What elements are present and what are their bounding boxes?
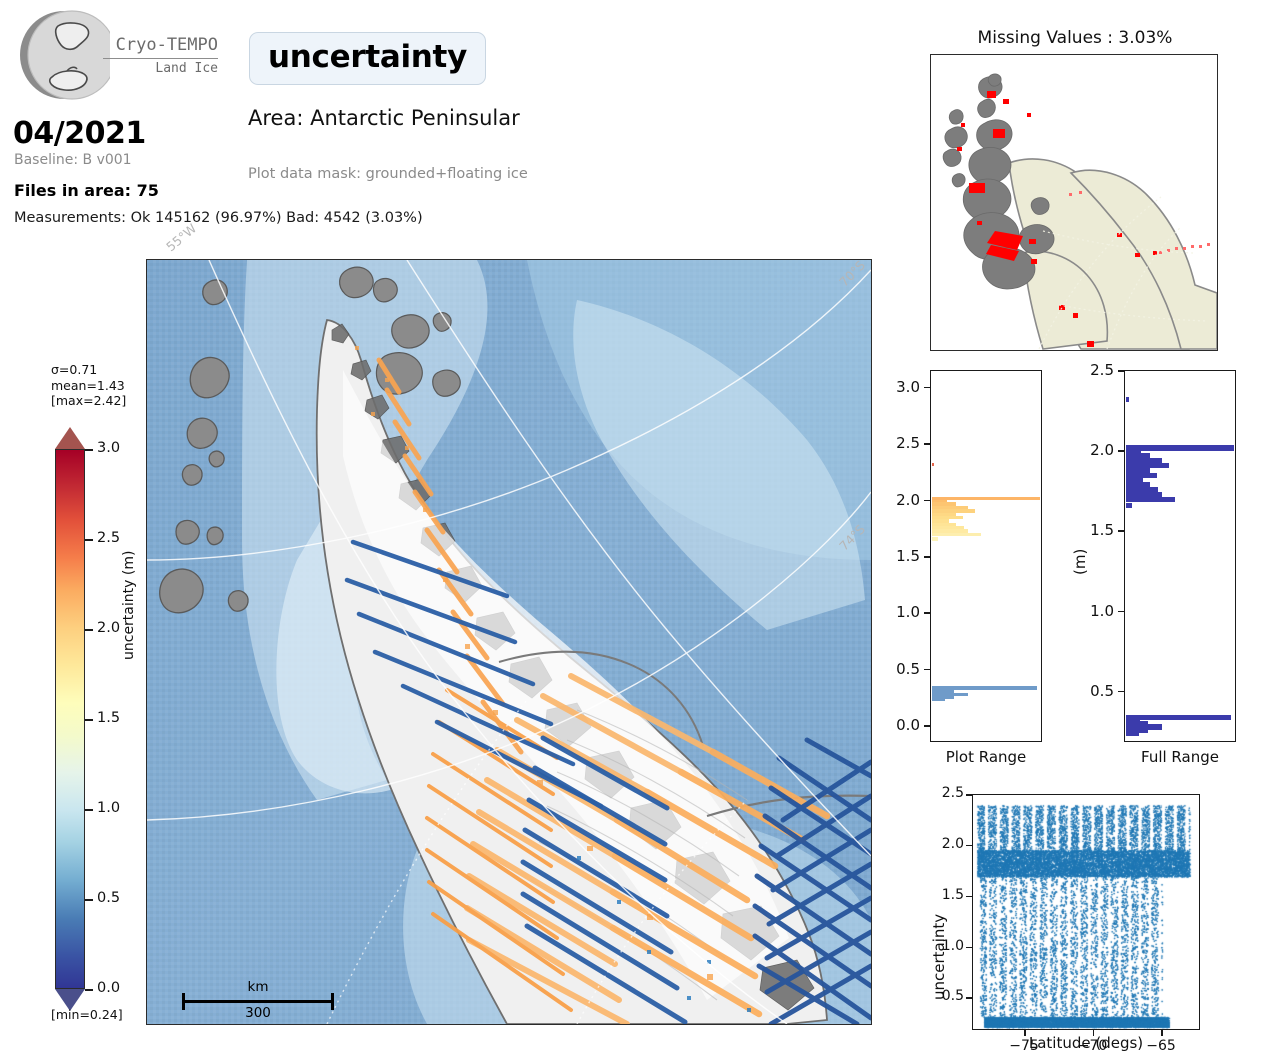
histogram-tick	[924, 612, 930, 614]
area-label: Area: Antarctic Peninsular	[248, 106, 520, 130]
scatter-xlabel: Latitude (degs)	[972, 1034, 1200, 1052]
plot-data-mask-label: Plot data mask: grounded+floating ice	[248, 166, 528, 182]
baseline-label: Baseline: B v001	[14, 152, 132, 168]
scatter-ytick	[966, 896, 972, 898]
histogram-tick	[1118, 450, 1124, 452]
scatter-ytick	[966, 794, 972, 796]
colorbar-tick-label: 2.0	[97, 620, 120, 636]
colorbar-tick	[85, 899, 93, 901]
logo-subtitle: Land Ice	[103, 61, 218, 76]
histogram-tick	[924, 556, 930, 558]
colorbar-tick	[85, 539, 93, 541]
histogram-bar	[932, 519, 949, 523]
histogram-bar	[1126, 503, 1132, 508]
cryo-tempo-logo	[18, 8, 110, 102]
scatter-ytick	[966, 947, 972, 949]
colorbar-min: [min=0.24]	[51, 1007, 123, 1022]
full-range-histogram[interactable]	[1124, 370, 1236, 742]
histogram-tick	[1118, 691, 1124, 693]
missing-values-canvas	[931, 55, 1217, 350]
variable-badge-label: uncertainty	[268, 39, 467, 75]
globe-antarctica-icon	[18, 8, 110, 102]
histogram-tick	[924, 500, 930, 502]
histogram-tick	[924, 725, 930, 727]
scatter-points-canvas	[973, 795, 1199, 1029]
scatter-ytick-label: 1.5	[926, 887, 964, 903]
histogram-bar	[932, 523, 956, 527]
date-label: 04/2021	[13, 116, 146, 151]
colorbar-sigma: σ=0.71	[51, 362, 126, 378]
histogram-bar	[1126, 482, 1150, 487]
map-canvas	[147, 260, 871, 1024]
histogram-bar	[1126, 497, 1175, 502]
measurements-label: Measurements: Ok 145162 (96.97%) Bad: 45…	[14, 210, 423, 226]
histogram-bar	[932, 509, 975, 513]
histogram-bar	[1126, 487, 1158, 492]
histogram-tick-label: 1.0	[1062, 602, 1114, 620]
histogram-bar	[932, 529, 968, 533]
logo-text-block: Cryo-TEMPO Land Ice	[103, 36, 218, 76]
colorbar-tick	[85, 449, 93, 451]
histogram-tick-label: 1.0	[868, 603, 920, 621]
histogram-tick	[924, 443, 930, 445]
colorbar-tick-label: 0.0	[97, 980, 120, 996]
variable-badge: uncertainty	[249, 32, 486, 85]
histogram-tick-label: 0.0	[868, 716, 920, 734]
main-map[interactable]: 70°S 74°S	[146, 259, 872, 1025]
files-in-area-label: Files in area: 75	[14, 181, 159, 200]
colorbar-stats: σ=0.71 mean=1.43 [max=2.42]	[51, 362, 126, 409]
missing-values-map[interactable]	[930, 54, 1218, 351]
histogram-bar	[1126, 468, 1150, 473]
histogram-bar	[932, 686, 1037, 690]
histogram-bar	[932, 502, 956, 506]
histogram-bar	[932, 497, 1040, 501]
histogram-tick	[924, 387, 930, 389]
histogram-bar	[932, 516, 963, 520]
histogram-tick	[924, 669, 930, 671]
colorbar-tick	[85, 809, 93, 811]
full-range-ylabel: (m)	[1071, 549, 1089, 575]
histogram-bar	[932, 512, 956, 516]
histogram-bar	[1126, 715, 1231, 720]
logo-title: Cryo-TEMPO	[103, 36, 218, 55]
colorbar-tick-label: 2.5	[97, 530, 120, 546]
plot-range-histogram[interactable]	[930, 370, 1042, 742]
colorbar-axis-label: uncertainty (m)	[121, 551, 137, 660]
histogram-bar	[1126, 397, 1129, 402]
colorbar	[55, 427, 85, 1012]
histogram-bar	[932, 463, 934, 467]
colorbar-gradient	[55, 449, 85, 989]
scatter-ytick-label: 2.0	[926, 836, 964, 852]
scatter-ytick	[966, 845, 972, 847]
histogram-bar	[1126, 445, 1234, 450]
colorbar-tick	[85, 989, 93, 991]
histogram-tick-label: 2.0	[868, 491, 920, 509]
scalebar-value: 300	[182, 1005, 334, 1021]
histogram-tick	[1118, 530, 1124, 532]
missing-values-title: Missing Values : 3.03%	[930, 28, 1220, 48]
scatter-ytick-label: 2.5	[926, 785, 964, 801]
histogram-tick-label: 3.0	[868, 378, 920, 396]
colorbar-over-arrow	[55, 427, 85, 449]
histogram-tick	[1118, 611, 1124, 613]
plot-range-caption: Plot Range	[930, 748, 1042, 766]
colorbar-tick	[85, 629, 93, 631]
histogram-bar	[1126, 477, 1143, 482]
histogram-bar	[1126, 492, 1162, 497]
histogram-bar	[1126, 473, 1157, 478]
colorbar-tick	[85, 719, 93, 721]
histogram-bar	[932, 506, 968, 510]
histogram-bar	[1126, 463, 1169, 468]
histogram-tick-label: 1.5	[1062, 521, 1114, 539]
histogram-bar	[932, 526, 964, 530]
uncertainty-vs-latitude-scatter[interactable]	[972, 794, 1200, 1030]
logo-divider	[103, 58, 218, 59]
colorbar-mean: mean=1.43	[51, 378, 126, 394]
histogram-tick-label: 0.5	[868, 660, 920, 678]
scalebar-unit: km	[182, 979, 334, 995]
scatter-ylabel: uncertainty	[930, 914, 948, 1000]
histogram-tick	[1118, 370, 1124, 372]
scalebar-line	[182, 1000, 334, 1003]
histogram-tick-label: 0.5	[1062, 682, 1114, 700]
scatter-ytick	[966, 997, 972, 999]
histogram-tick-label: 1.5	[868, 547, 920, 565]
histogram-tick-label: 2.5	[1062, 361, 1114, 379]
colorbar-tick-label: 1.5	[97, 710, 120, 726]
colorbar-max: [max=2.42]	[51, 393, 126, 409]
histogram-bar	[932, 537, 938, 541]
histogram-bar	[932, 533, 981, 537]
histogram-bar	[1126, 453, 1150, 458]
full-range-caption: Full Range	[1124, 748, 1236, 766]
histogram-bar	[1126, 458, 1162, 463]
histogram-tick-label: 2.5	[868, 434, 920, 452]
histogram-tick-label: 2.0	[1062, 441, 1114, 459]
colorbar-tick-label: 3.0	[97, 440, 120, 456]
colorbar-tick-label: 0.5	[97, 890, 120, 906]
colorbar-tick-label: 1.0	[97, 800, 120, 816]
